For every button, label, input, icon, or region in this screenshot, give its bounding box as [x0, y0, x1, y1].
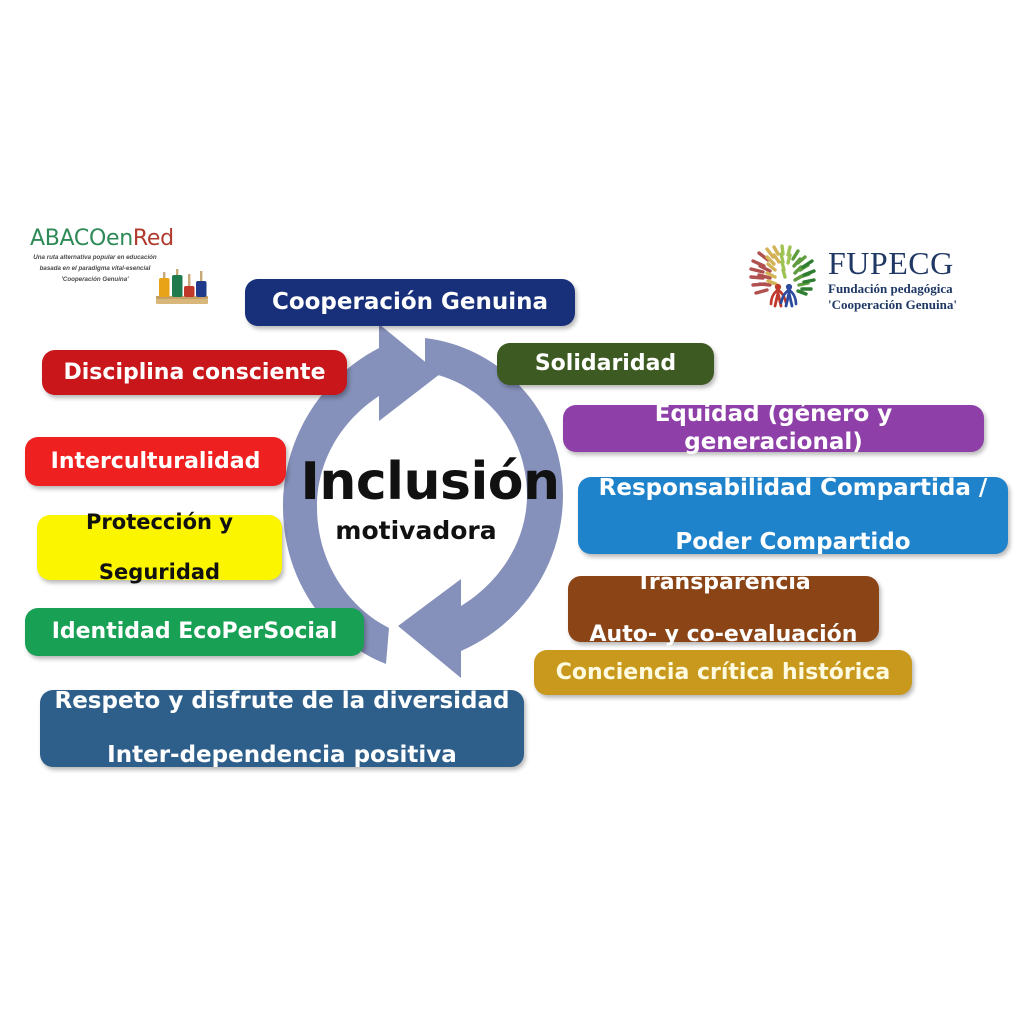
label-transparencia-line1: Transparencia	[582, 570, 865, 596]
label-transparencia[interactable]: Transparencia Auto- y co-evaluación	[568, 576, 879, 642]
tree-people-icon	[742, 244, 824, 316]
label-identidad-ecopersocial[interactable]: Identidad EcoPerSocial	[25, 608, 364, 656]
abacus-icon	[154, 266, 210, 306]
label-identidad-ecopersocial-line1: Identidad EcoPerSocial	[39, 619, 350, 645]
label-transparencia-lines: Transparencia Auto- y co-evaluación	[582, 570, 865, 648]
fupecg-subtitle-line1: Fundación pedagógica	[828, 281, 957, 297]
fupecg-subtitle-line2: 'Cooperación Genuina'	[828, 297, 957, 313]
fupecg-title: FUPECG	[828, 247, 957, 279]
label-disciplina-consciente[interactable]: Disciplina consciente	[42, 350, 347, 395]
label-cooperacion-genuina[interactable]: Cooperación Genuina	[245, 279, 575, 326]
abacoenred-tagline-line3: 'Cooperación Genuina'	[30, 275, 160, 286]
label-interculturalidad-line1: Interculturalidad	[39, 449, 272, 475]
diagram-canvas: Inclusión motivadora Cooperación Genuina…	[0, 0, 1024, 1024]
label-proteccion-line2: Seguridad	[51, 560, 268, 585]
abacoenred-word-en: en	[106, 226, 133, 251]
abacoenred-tagline-line1: Una ruta alternativa popular en educació…	[30, 253, 160, 264]
label-equidad[interactable]: Equidad (género y generacional)	[563, 405, 984, 452]
label-conciencia-critica-historica[interactable]: Conciencia crítica histórica	[534, 650, 912, 695]
label-respeto-line2: Inter-dependencia positiva	[54, 742, 510, 769]
label-proteccion-line1: Protección y	[51, 510, 268, 535]
label-solidaridad[interactable]: Solidaridad	[497, 343, 714, 385]
fupecg-text-block: FUPECG Fundación pedagógica 'Cooperación…	[828, 247, 957, 314]
label-responsabilidad-line1: Responsabilidad Compartida /	[592, 475, 994, 502]
label-respeto-diversidad[interactable]: Respeto y disfrute de la diversidad Inte…	[40, 690, 524, 767]
label-transparencia-line2: Auto- y co-evaluación	[582, 622, 865, 648]
label-solidaridad-line1: Solidaridad	[511, 351, 700, 377]
label-equidad-line1: Equidad (género y generacional)	[577, 401, 970, 455]
label-proteccion-y-seguridad[interactable]: Protección y Seguridad	[37, 515, 282, 580]
label-responsabilidad-line2: Poder Compartido	[592, 529, 994, 556]
label-conciencia-critica-historica-line1: Conciencia crítica histórica	[548, 660, 898, 686]
fupecg-logo[interactable]: FUPECG Fundación pedagógica 'Cooperación…	[742, 240, 972, 320]
abacoenred-word-red: Red	[133, 226, 174, 251]
abacoenred-word-abaco: ABACO	[30, 226, 106, 251]
abacoenred-wordmark: ABACOenRed	[30, 228, 210, 250]
abacoenred-tagline-line2: basada en el paradigma vital-esencial	[30, 264, 160, 275]
label-interculturalidad[interactable]: Interculturalidad	[25, 437, 286, 486]
label-respeto-diversidad-lines: Respeto y disfrute de la diversidad Inte…	[54, 688, 510, 769]
abacoenred-tagline: Una ruta alternativa popular en educació…	[30, 253, 160, 286]
label-respeto-line1: Respeto y disfrute de la diversidad	[54, 688, 510, 715]
cycle-arrow-right	[398, 338, 563, 678]
label-proteccion-y-seguridad-lines: Protección y Seguridad	[51, 510, 268, 584]
label-responsabilidad-compartida[interactable]: Responsabilidad Compartida / Poder Compa…	[578, 477, 1008, 554]
abacoenred-logo[interactable]: ABACOenRed Una ruta alternativa popular …	[30, 228, 210, 310]
label-disciplina-consciente-line1: Disciplina consciente	[56, 360, 333, 386]
label-responsabilidad-lines: Responsabilidad Compartida / Poder Compa…	[592, 475, 994, 556]
label-cooperacion-genuina-line1: Cooperación Genuina	[259, 289, 561, 316]
